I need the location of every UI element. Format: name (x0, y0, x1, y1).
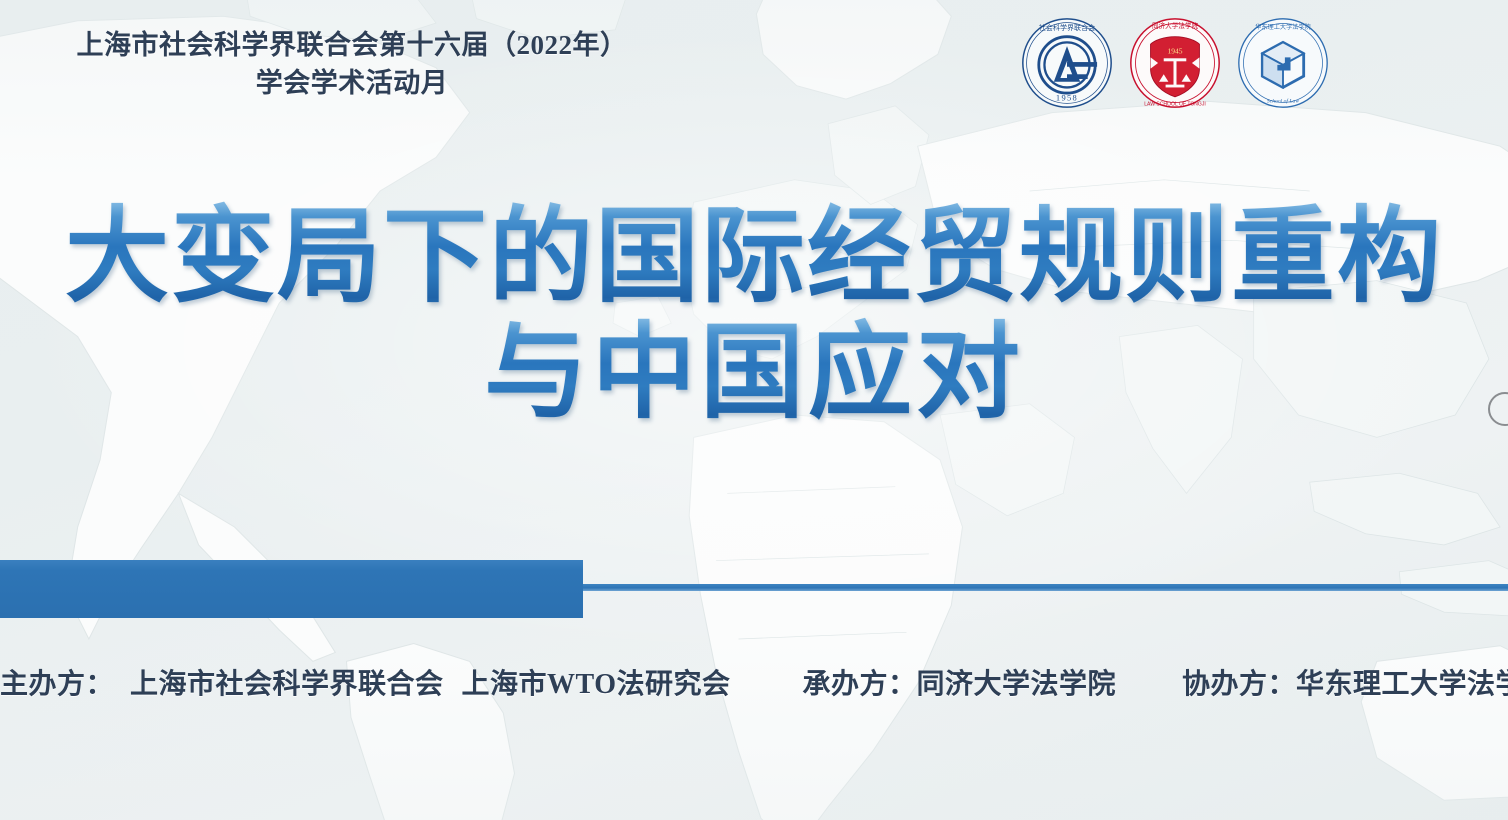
tongji-law-school-logo: 1945 同济大学法学院 LAW SCHOOL OF TONGJI (1128, 16, 1222, 110)
event-series-header: 上海市社会科学界联合会第十六届（2022年） 学会学术活动月 (42, 26, 662, 103)
coorganizer-organization: 华东理工大学法学院 (1296, 662, 1508, 702)
slide-title: 大变局下的国际经贸规则重构 与中国应对 (0, 198, 1508, 431)
header-line-1: 上海市社会科学界联合会第十六届（2022年） (77, 30, 628, 60)
host-organization-1: 上海市社会科学界联合会 (130, 662, 444, 702)
svg-text:LAW SCHOOL OF TONGJI: LAW SCHOOL OF TONGJI (1144, 101, 1206, 107)
svg-text:1958: 1958 (1056, 93, 1078, 103)
ecust-law-school-logo: 华东理工大学法学院 School of Law (1236, 16, 1330, 110)
shanghai-federation-social-science-logo: 1958 社会科学界联合会 (1020, 16, 1114, 110)
logo-row: 1958 社会科学界联合会 1945 同济大学法学院 LAW SCHOOL OF… (1020, 16, 1330, 110)
title-line-2: 与中国应对 (0, 314, 1508, 430)
host-label: 主办方： (0, 662, 114, 702)
svg-text:社会科学界联合会: 社会科学界联合会 (1039, 23, 1095, 32)
svg-text:同济大学法学院: 同济大学法学院 (1152, 21, 1198, 30)
svg-text:School of Law: School of Law (1267, 97, 1299, 104)
presentation-slide: 上海市社会科学界联合会第十六届（2022年） 学会学术活动月 1958 社会科学… (0, 0, 1508, 820)
accent-divider-line (583, 584, 1508, 591)
edge-circle-artifact (1488, 392, 1508, 426)
svg-text:华东理工大学法学院: 华东理工大学法学院 (1255, 23, 1311, 31)
footer-credits: 主办方： 上海市社会科学界联合会 上海市WTO法研究会 承办方： 同济大学法学院… (0, 662, 1508, 702)
organizer-label: 承办方： (802, 662, 916, 702)
accent-bar (0, 560, 583, 618)
host-organization-2: 上海市WTO法研究会 (462, 662, 731, 702)
coorganizer-label: 协办方： (1182, 662, 1296, 702)
title-line-1: 大变局下的国际经贸规则重构 (0, 198, 1508, 314)
organizer-organization: 同济大学法学院 (917, 662, 1117, 702)
svg-text:1945: 1945 (1167, 47, 1182, 56)
header-line-2: 学会学术活动月 (42, 64, 662, 102)
